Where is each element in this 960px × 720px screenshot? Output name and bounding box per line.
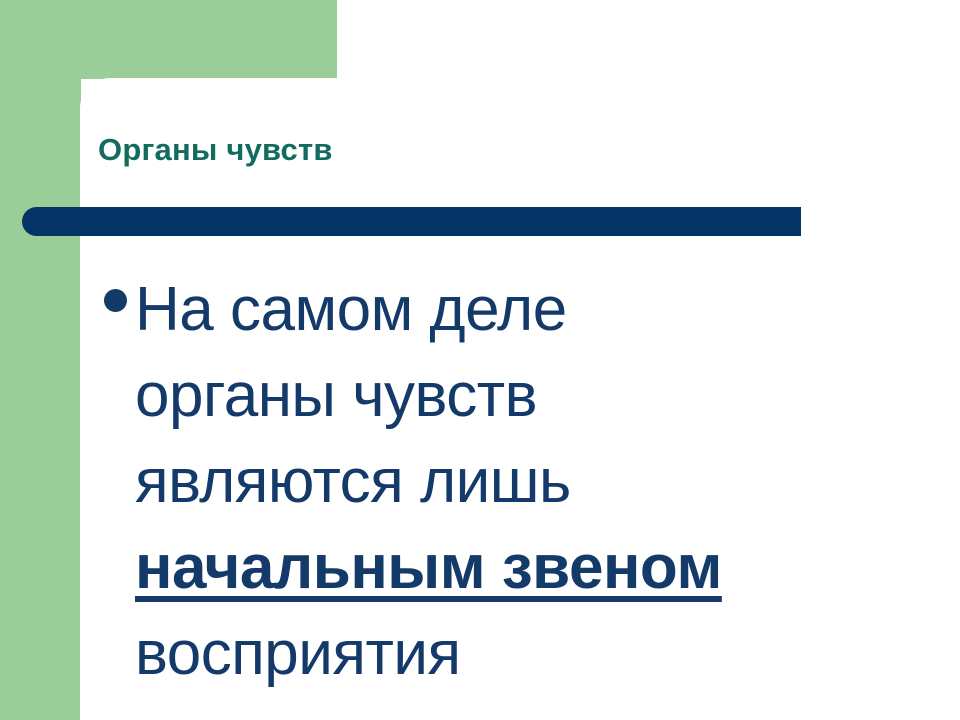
body-line-4-emphasis: начальным звеном [135,525,934,611]
body-line-2: органы чувств [135,353,934,439]
body-line-1: На самом деле [135,267,934,353]
slide-canvas: Органы чувств На самом деле органы чувст… [0,0,960,720]
slide-title: Органы чувств [98,133,798,167]
bullet-dot-icon [104,289,127,312]
body-line-5: восприятия [135,611,934,697]
title-divider-bar [22,207,801,236]
slide-body: На самом деле органы чувств являются лиш… [104,267,934,697]
decorative-green-top-block [0,0,337,79]
bullet-paragraph: На самом деле органы чувств являются лиш… [104,267,934,697]
decorative-green-left-column [0,70,81,720]
body-line-3: являются лишь [135,439,934,525]
bullet-list-item: На самом деле органы чувств являются лиш… [104,267,934,697]
